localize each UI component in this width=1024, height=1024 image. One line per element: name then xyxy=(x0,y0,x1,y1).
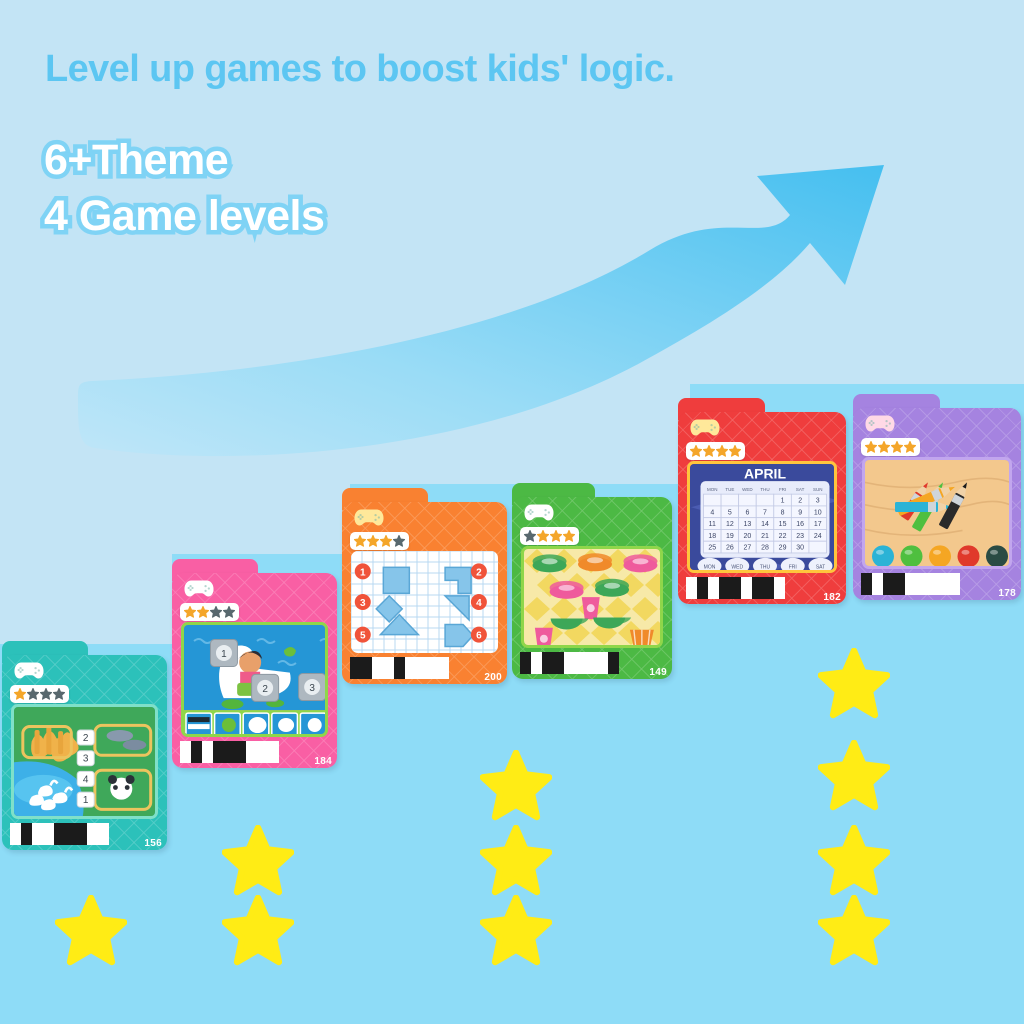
star-icon xyxy=(524,530,536,542)
barcode-bar xyxy=(416,657,427,679)
barcode-strip xyxy=(350,657,499,679)
paint-dot xyxy=(901,545,923,567)
barcode-bar xyxy=(372,657,383,679)
calendar-day: 16 xyxy=(796,521,804,528)
barcode-strip xyxy=(520,652,664,674)
star-icon xyxy=(537,530,549,542)
weekday-label: THU xyxy=(760,487,769,492)
barcode-bar xyxy=(883,573,894,595)
star-icon xyxy=(550,530,562,542)
game-card[interactable]: APRILMONTUEWEDTHUFRISATSUN12345678910111… xyxy=(678,412,846,604)
barcode-bar xyxy=(894,573,905,595)
svg-text:6: 6 xyxy=(476,631,482,642)
status-badge xyxy=(520,527,579,545)
card-code: 184 xyxy=(314,756,332,767)
barcode-bar xyxy=(202,741,213,763)
barcode-bar xyxy=(730,577,741,599)
calendar-day: 21 xyxy=(761,533,769,540)
calendar-day: 9 xyxy=(798,509,802,516)
calendar-day: 18 xyxy=(708,533,716,540)
svg-text:MON: MON xyxy=(704,564,716,570)
barcode-bar xyxy=(708,577,719,599)
star-icon xyxy=(222,895,294,967)
step-number: 4 xyxy=(77,771,94,786)
card-screen: 2 3 4 1 xyxy=(11,704,158,819)
gamepad-icon xyxy=(14,661,44,680)
calendar-day: 26 xyxy=(726,545,734,552)
barcode-bar xyxy=(224,741,235,763)
card-code: 156 xyxy=(144,838,162,849)
calendar-day: 1 xyxy=(781,498,785,505)
barcode-bar xyxy=(180,741,191,763)
barcode-bar xyxy=(872,573,883,595)
shapes-grid-scene: 1 2 3 4 5 6 xyxy=(351,551,498,653)
barcode-bar xyxy=(191,741,202,763)
barcode-bar xyxy=(861,573,872,595)
calendar-day: 30 xyxy=(796,545,804,552)
decorative-star xyxy=(222,895,294,972)
barcode-bar xyxy=(438,657,449,679)
star-icon xyxy=(878,441,890,453)
star-icon xyxy=(865,441,877,453)
calendar-day: 27 xyxy=(744,545,752,552)
step-number: 3 xyxy=(355,594,371,610)
card-screen xyxy=(521,546,663,648)
decorative-star xyxy=(818,825,890,902)
star-icon xyxy=(480,750,552,822)
barcode-bar xyxy=(43,823,54,845)
paint-dot xyxy=(929,545,951,567)
barcode-bar xyxy=(21,823,32,845)
calendar-day: 6 xyxy=(745,509,749,516)
star-icon xyxy=(818,648,890,720)
svg-text:5: 5 xyxy=(360,631,366,642)
barcode-bar xyxy=(763,577,774,599)
svg-text:3: 3 xyxy=(309,683,315,694)
barcode-bar xyxy=(213,741,224,763)
barcode-bar xyxy=(916,573,927,595)
star-icon xyxy=(716,445,728,457)
star-icon xyxy=(367,535,379,547)
svg-text:2: 2 xyxy=(83,733,89,744)
barcode-bar xyxy=(697,577,708,599)
star-icon xyxy=(818,895,890,967)
weekday-label: SUN xyxy=(813,487,823,492)
svg-text:WED: WED xyxy=(731,564,743,570)
star-icon xyxy=(210,606,222,618)
paint-dot xyxy=(958,545,980,567)
calendar-day: 15 xyxy=(779,521,787,528)
calendar-day: 28 xyxy=(761,545,769,552)
calendar-day: 4 xyxy=(710,509,714,516)
step-number: 1 xyxy=(355,563,371,579)
card-code: 149 xyxy=(649,667,667,678)
gamepad-icon xyxy=(690,418,720,437)
gamepad-icon xyxy=(184,579,214,598)
calendar-day: 19 xyxy=(726,533,734,540)
calendar-day: 11 xyxy=(709,521,716,528)
barcode-bar xyxy=(608,652,619,674)
feature-line-levels: 4 Game levels xyxy=(44,189,324,245)
step-number: 5 xyxy=(355,627,371,643)
calendar-day: 14 xyxy=(761,521,769,528)
star-icon xyxy=(891,441,903,453)
gamepad-icon xyxy=(354,508,384,527)
status-badge xyxy=(861,438,920,456)
svg-text:FRI: FRI xyxy=(789,564,797,570)
decorative-star xyxy=(818,648,890,725)
star-icon xyxy=(818,740,890,812)
barcode-bar xyxy=(383,657,394,679)
calendar-day: 25 xyxy=(708,545,716,552)
barcode-bar xyxy=(531,652,542,674)
barcode-bar xyxy=(542,652,553,674)
calendar-day: 24 xyxy=(814,533,822,540)
weekday-label: FRI xyxy=(779,487,786,492)
step-number: 1 xyxy=(77,792,94,807)
step-number: 4 xyxy=(471,594,487,610)
decorative-star xyxy=(818,895,890,972)
star-icon xyxy=(184,606,196,618)
feature-lines: 6+Theme 4 Game levels xyxy=(44,133,324,245)
gamepad-icon xyxy=(14,661,44,680)
barcode-bar xyxy=(752,577,763,599)
gamepad-icon xyxy=(354,508,384,527)
calendar-scene: APRILMONTUEWEDTHUFRISATSUN12345678910111… xyxy=(690,464,837,573)
barcode-strip xyxy=(861,573,1013,595)
card-code: 200 xyxy=(484,672,502,683)
swan-boat-scene: 1 2 3 xyxy=(184,625,328,737)
card-screen xyxy=(862,457,1012,569)
star-icon xyxy=(563,530,575,542)
decorative-star xyxy=(55,895,127,972)
svg-text:2: 2 xyxy=(476,567,482,578)
star-icon xyxy=(14,688,26,700)
star-icon xyxy=(222,825,294,897)
decorative-star xyxy=(480,825,552,902)
calendar-day: 13 xyxy=(744,521,752,528)
weekday-label: TUE xyxy=(725,487,734,492)
barcode-strip xyxy=(180,741,329,763)
barcode-bar xyxy=(927,573,938,595)
decorative-star xyxy=(480,895,552,972)
barcode-bar xyxy=(235,741,246,763)
star-icon xyxy=(690,445,702,457)
barcode-bar xyxy=(394,657,405,679)
star-icon xyxy=(904,441,916,453)
card-screen: APRILMONTUEWEDTHUFRISATSUN12345678910111… xyxy=(687,461,837,573)
card-screen: 1 2 3 4 5 6 xyxy=(351,551,498,653)
calendar-day: 7 xyxy=(763,509,767,516)
decorative-star xyxy=(222,825,294,902)
barcode-bar xyxy=(10,823,21,845)
barcode-bar xyxy=(32,823,43,845)
gamepad-icon xyxy=(865,414,895,433)
calendar-day: 17 xyxy=(814,521,822,528)
star-icon xyxy=(197,606,209,618)
barcode-bar xyxy=(268,741,279,763)
barcode-bar xyxy=(586,652,597,674)
calendar-day: 5 xyxy=(728,509,732,516)
calendar-day: 23 xyxy=(796,533,804,540)
weekday-label: WED xyxy=(742,487,753,492)
barcode-bar xyxy=(686,577,697,599)
barcode-strip xyxy=(686,577,838,599)
step-number: 3 xyxy=(299,674,326,701)
card-code: 178 xyxy=(998,588,1016,599)
star-icon xyxy=(223,606,235,618)
pencils-scene xyxy=(865,460,1012,569)
calendar-day: 8 xyxy=(781,509,785,516)
barcode-bar xyxy=(87,823,98,845)
status-badge xyxy=(350,532,409,550)
calendar-day: 2 xyxy=(798,498,802,505)
status-badge xyxy=(686,442,745,460)
barcode-bar xyxy=(719,577,730,599)
gamepad-icon xyxy=(865,414,895,433)
star-icon xyxy=(480,825,552,897)
svg-text:1: 1 xyxy=(221,649,227,660)
star-icon xyxy=(27,688,39,700)
star-icon xyxy=(729,445,741,457)
star-icon xyxy=(40,688,52,700)
barcode-bar xyxy=(98,823,109,845)
barcode-bar xyxy=(774,577,785,599)
barcode-bar xyxy=(938,573,949,595)
step-number: 2 xyxy=(77,730,94,745)
barcode-bar xyxy=(597,652,608,674)
gamepad-icon xyxy=(690,418,720,437)
star-icon xyxy=(53,688,65,700)
step-number: 6 xyxy=(471,627,487,643)
step-number: 3 xyxy=(77,751,94,766)
calendar-month: APRIL xyxy=(744,466,786,482)
step-number: 2 xyxy=(471,563,487,579)
calendar-day: 20 xyxy=(744,533,752,540)
svg-text:SAT: SAT xyxy=(816,564,825,570)
card-code: 182 xyxy=(823,592,841,603)
gamepad-icon xyxy=(524,503,554,522)
barcode-bar xyxy=(741,577,752,599)
feature-line-themes: 6+Theme xyxy=(44,133,324,189)
barcode-bar xyxy=(65,823,76,845)
barcode-strip xyxy=(10,823,159,845)
game-card[interactable]: 178 xyxy=(853,408,1021,600)
page-title: Level up games to boost kids' logic. xyxy=(45,48,945,91)
barcode-bar xyxy=(520,652,531,674)
svg-text:4: 4 xyxy=(83,774,89,785)
calendar-day: 29 xyxy=(779,545,787,552)
barcode-bar xyxy=(553,652,564,674)
barcode-bar xyxy=(350,657,361,679)
barcode-bar xyxy=(427,657,438,679)
barcode-bar xyxy=(361,657,372,679)
game-card[interactable]: 1 2 3 4 5 6200 xyxy=(342,502,507,684)
svg-text:4: 4 xyxy=(476,598,482,609)
star-icon xyxy=(380,535,392,547)
barcode-bar xyxy=(257,741,268,763)
calendar-day: 3 xyxy=(816,498,820,505)
weekday-label: MON xyxy=(707,487,718,492)
star-icon xyxy=(818,825,890,897)
star-icon xyxy=(703,445,715,457)
calendar-day: 22 xyxy=(779,533,787,540)
gamepad-icon xyxy=(184,579,214,598)
barcode-bar xyxy=(949,573,960,595)
step-number: 1 xyxy=(210,639,237,666)
svg-text:2: 2 xyxy=(262,684,268,695)
svg-text:1: 1 xyxy=(360,567,366,578)
svg-text:3: 3 xyxy=(360,598,366,609)
gamepad-icon xyxy=(524,503,554,522)
barcode-bar xyxy=(405,657,416,679)
paint-dot xyxy=(872,545,894,567)
tableware-scene xyxy=(524,549,663,648)
svg-text:THU: THU xyxy=(760,564,771,570)
status-badge xyxy=(10,685,69,703)
barcode-bar xyxy=(76,823,87,845)
barcode-bar xyxy=(246,741,257,763)
calendar-day: 10 xyxy=(814,509,822,516)
step-number: 2 xyxy=(252,674,279,701)
game-card[interactable]: 149 xyxy=(512,497,672,679)
barcode-bar xyxy=(575,652,586,674)
star-icon xyxy=(393,535,405,547)
decorative-star xyxy=(818,740,890,817)
star-icon xyxy=(55,895,127,967)
weekday-label: SAT xyxy=(796,487,805,492)
game-card[interactable]: 1 2 3 184 xyxy=(172,573,337,768)
decorative-star xyxy=(480,750,552,827)
calendar-day: 12 xyxy=(726,521,734,528)
zoo-scene: 2 3 4 1 xyxy=(14,707,158,819)
star-icon xyxy=(480,895,552,967)
status-badge xyxy=(180,603,239,621)
game-card[interactable]: 2 3 4 1156 xyxy=(2,655,167,850)
barcode-bar xyxy=(564,652,575,674)
paint-dot xyxy=(986,545,1008,567)
star-icon xyxy=(354,535,366,547)
barcode-bar xyxy=(905,573,916,595)
card-screen: 1 2 3 xyxy=(181,622,328,737)
barcode-bar xyxy=(54,823,65,845)
svg-text:3: 3 xyxy=(83,754,89,765)
svg-text:1: 1 xyxy=(83,795,89,806)
